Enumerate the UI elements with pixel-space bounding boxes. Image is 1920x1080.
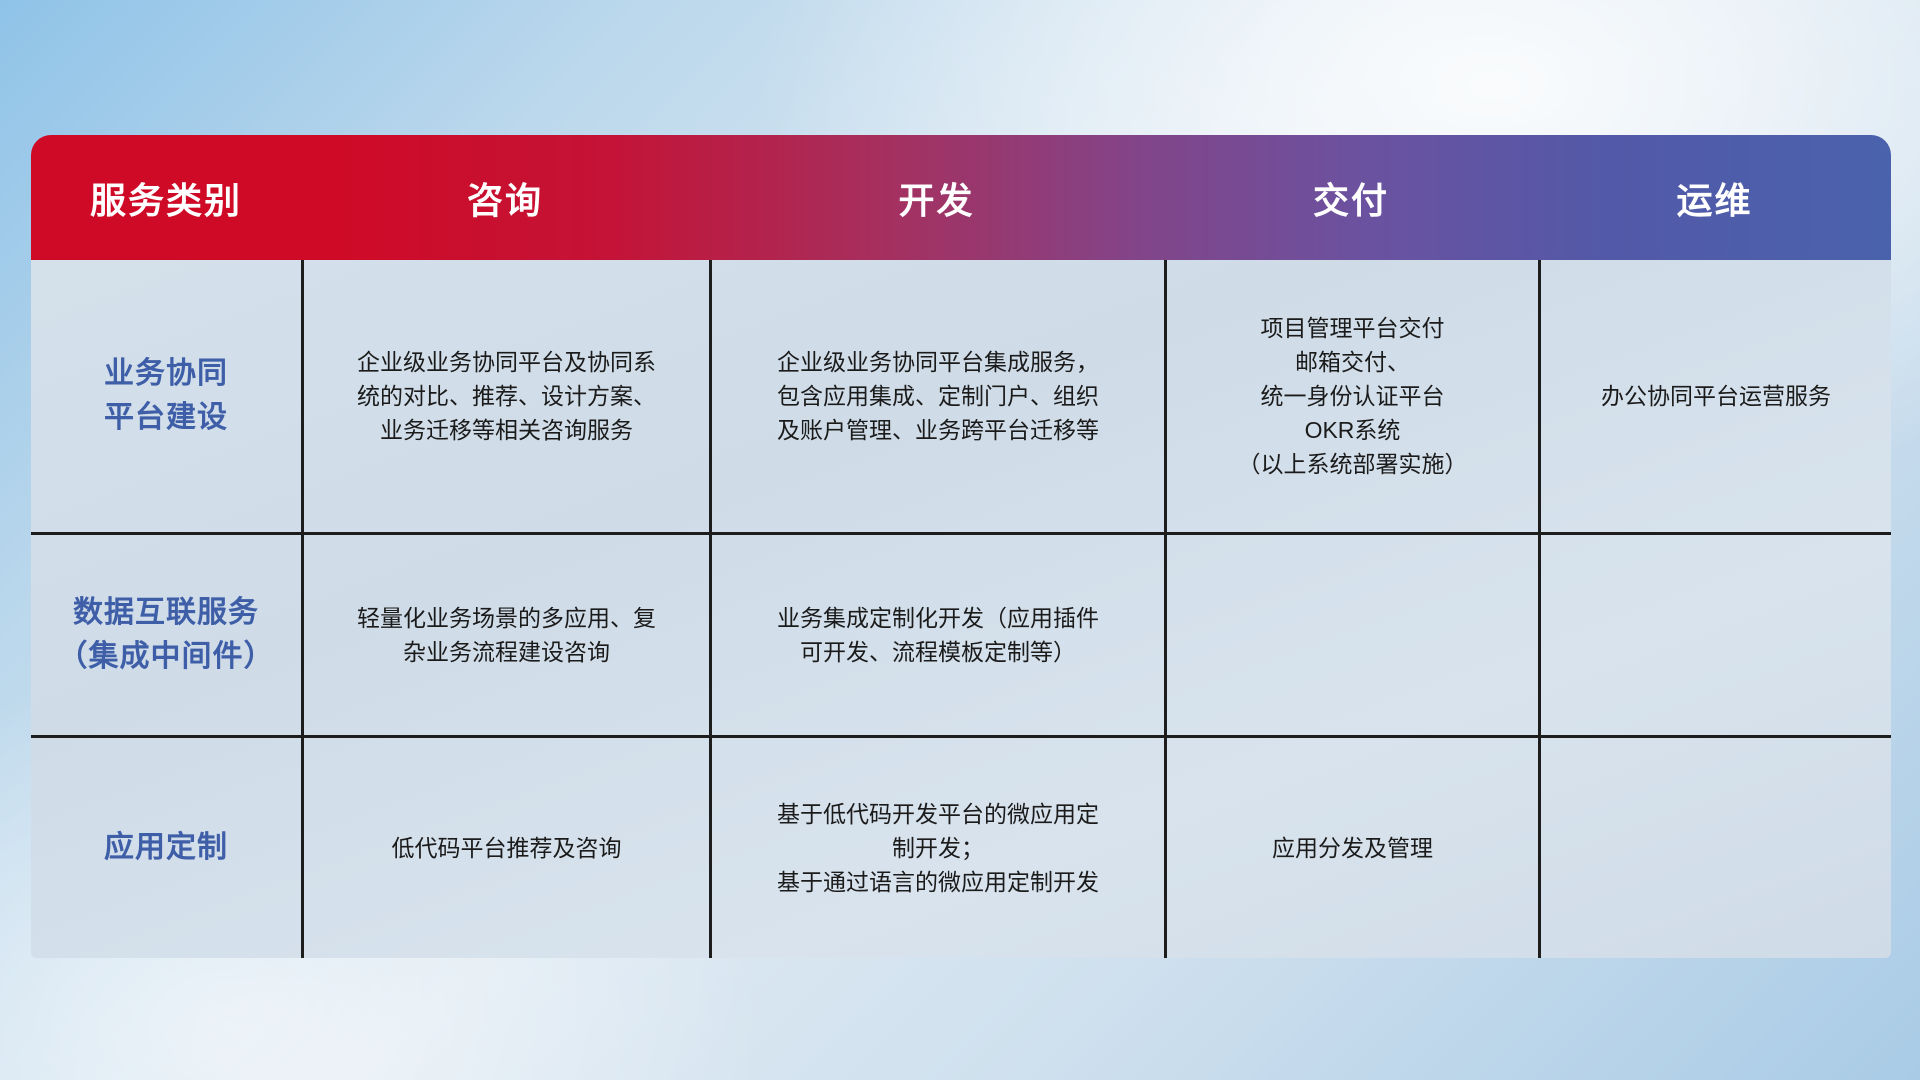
column-header-category-label: 服务类别 [90, 172, 242, 224]
row-label-business-collaboration: 业务协同 平台建设 [31, 260, 301, 532]
cell-delivery-row1: 项目管理平台交付 邮箱交付、 统一身份认证平台 OKR系统 （以上系统部署实施） [1164, 260, 1538, 532]
cell-consulting-row1: 企业级业务协同平台及协同系 统的对比、推荐、设计方案、 业务迁移等相关咨询服务 [301, 260, 709, 532]
cell-operations-row1: 办公协同平台运营服务 [1538, 260, 1891, 532]
cell-development-row2: 业务集成定制化开发（应用插件 可开发、流程模板定制等） [709, 535, 1164, 735]
table-row: 数据互联服务 （集成中间件） 轻量化业务场景的多应用、复 杂业务流程建设咨询 业… [31, 532, 1891, 735]
column-header-delivery-label: 交付 [1313, 172, 1389, 224]
cell-delivery-row2 [1164, 535, 1538, 735]
cell-text: 企业级业务协同平台及协同系 统的对比、推荐、设计方案、 业务迁移等相关咨询服务 [357, 345, 656, 447]
cell-text: 办公协同平台运营服务 [1601, 379, 1831, 413]
cell-text: 低代码平台推荐及咨询 [392, 831, 622, 865]
service-matrix-table: 服务类别 咨询 开发 交付 运维 业务协同 平台建设 [31, 135, 1891, 950]
row-label-data-interconnect: 数据互联服务 （集成中间件） [31, 535, 301, 735]
cell-text: 业务集成定制化开发（应用插件 可开发、流程模板定制等） [777, 601, 1099, 669]
row-label-app-customization: 应用定制 [31, 738, 301, 958]
table-row: 应用定制 低代码平台推荐及咨询 基于低代码开发平台的微应用定 制开发； 基于通过… [31, 735, 1891, 958]
cell-text: 基于低代码开发平台的微应用定 制开发； 基于通过语言的微应用定制开发 [777, 797, 1099, 899]
column-header-development-label: 开发 [898, 172, 974, 224]
cell-delivery-row3: 应用分发及管理 [1164, 738, 1538, 958]
column-header-operations-label: 运维 [1676, 172, 1752, 224]
cell-text: 应用分发及管理 [1272, 831, 1433, 865]
column-header-operations: 运维 [1538, 135, 1891, 260]
cell-development-row1: 企业级业务协同平台集成服务， 包含应用集成、定制门户、组织 及账户管理、业务跨平… [709, 260, 1164, 532]
cell-text: 轻量化业务场景的多应用、复 杂业务流程建设咨询 [357, 601, 656, 669]
cell-operations-row2 [1538, 535, 1891, 735]
cell-operations-row3 [1538, 738, 1891, 958]
column-header-consulting-label: 咨询 [467, 172, 543, 224]
column-header-development: 开发 [709, 135, 1164, 260]
column-header-delivery: 交付 [1164, 135, 1538, 260]
cell-text: 企业级业务协同平台集成服务， 包含应用集成、定制门户、组织 及账户管理、业务跨平… [777, 345, 1099, 447]
cell-text: 项目管理平台交付 邮箱交付、 统一身份认证平台 OKR系统 （以上系统部署实施） [1238, 311, 1468, 481]
table-header-row: 服务类别 咨询 开发 交付 运维 [31, 135, 1891, 260]
column-header-category: 服务类别 [31, 135, 301, 260]
table-row: 业务协同 平台建设 企业级业务协同平台及协同系 统的对比、推荐、设计方案、 业务… [31, 260, 1891, 532]
table-body: 业务协同 平台建设 企业级业务协同平台及协同系 统的对比、推荐、设计方案、 业务… [31, 260, 1891, 958]
row-label-text: 业务协同 平台建设 [104, 352, 228, 440]
row-label-text: 数据互联服务 （集成中间件） [58, 591, 275, 679]
slide-canvas: 服务类别 咨询 开发 交付 运维 业务协同 平台建设 [0, 0, 1920, 1080]
cell-consulting-row2: 轻量化业务场景的多应用、复 杂业务流程建设咨询 [301, 535, 709, 735]
cell-consulting-row3: 低代码平台推荐及咨询 [301, 738, 709, 958]
row-label-text: 应用定制 [104, 826, 228, 870]
cell-development-row3: 基于低代码开发平台的微应用定 制开发； 基于通过语言的微应用定制开发 [709, 738, 1164, 958]
column-header-consulting: 咨询 [301, 135, 709, 260]
